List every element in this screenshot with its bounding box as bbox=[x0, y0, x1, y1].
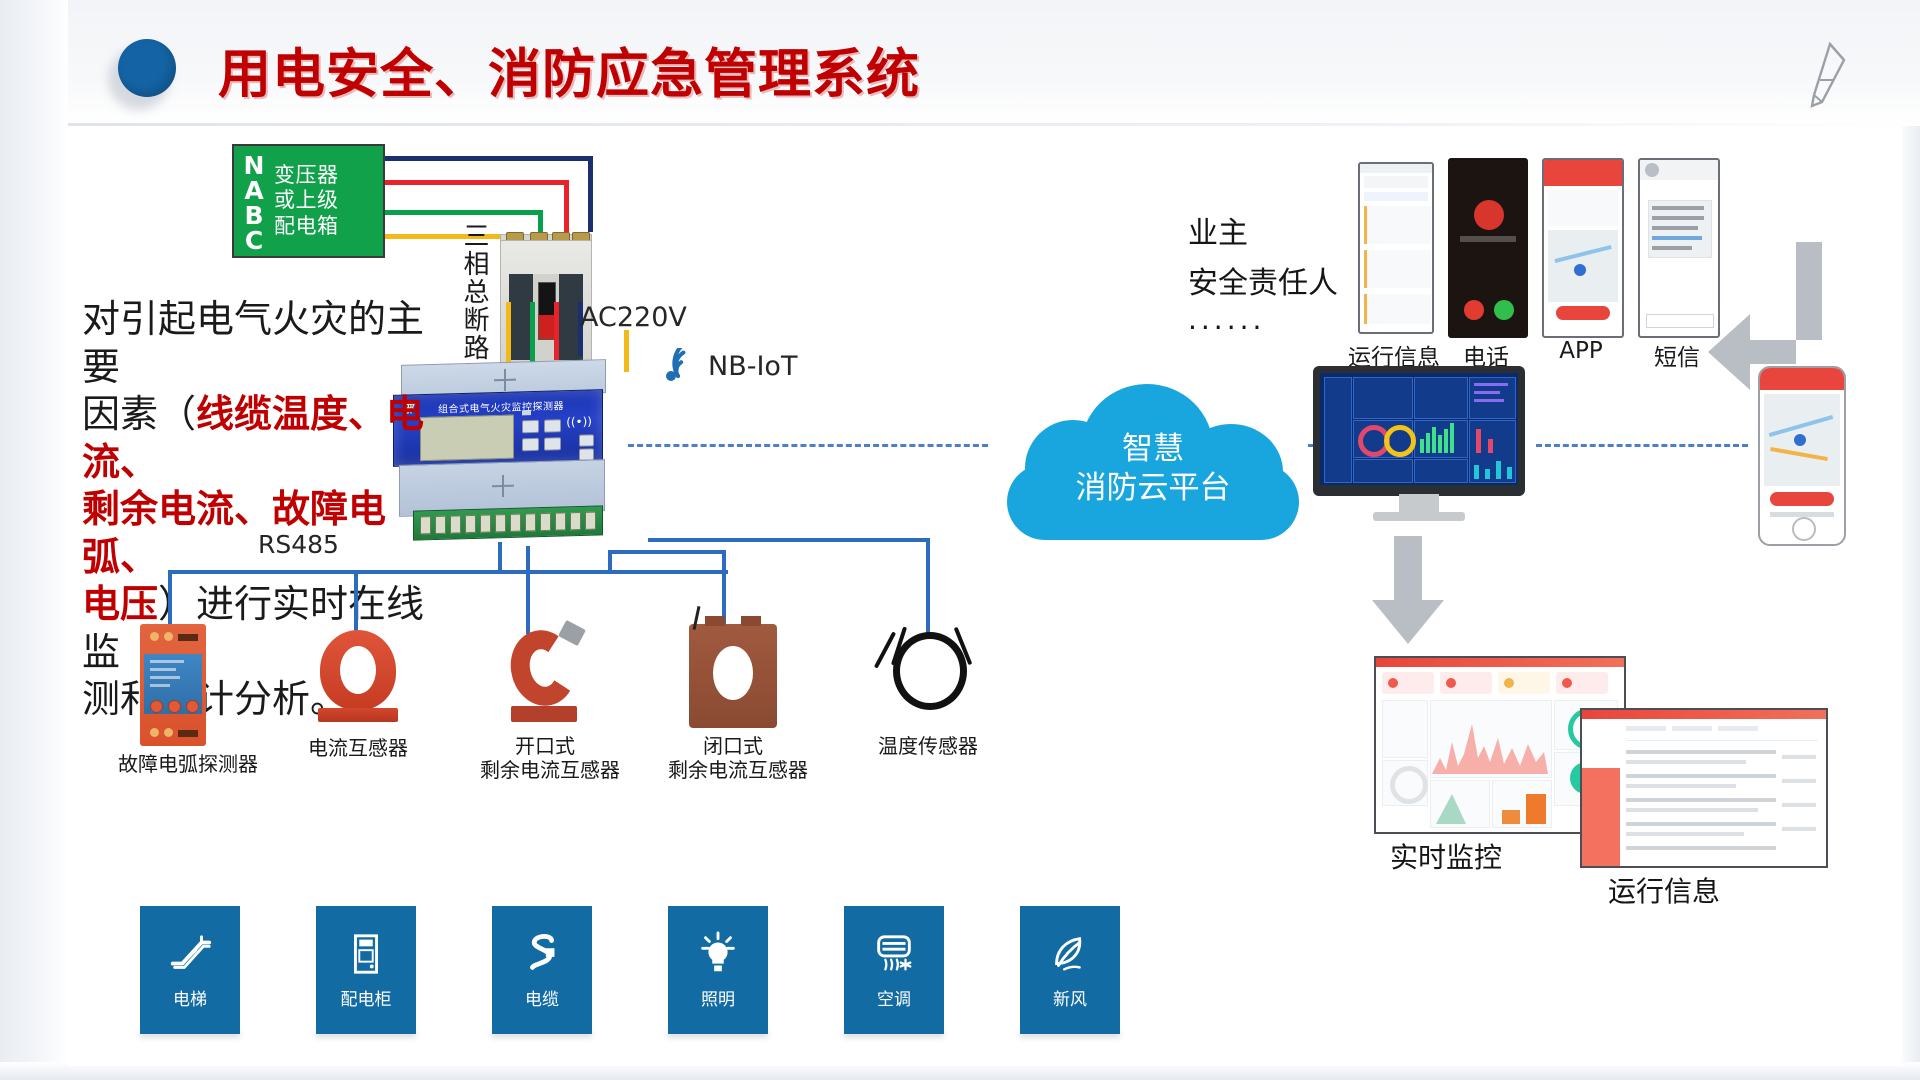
source-box-text: 变压器 或上级 配电箱 bbox=[274, 163, 383, 240]
cloud-text: 智慧 消防云平台 bbox=[1003, 430, 1303, 508]
rs485-label: RS485 bbox=[258, 530, 339, 559]
tile-label: 电缆 bbox=[525, 985, 559, 1010]
wire-a-vertical bbox=[564, 180, 569, 232]
bus-branch-3 bbox=[526, 546, 530, 634]
cloud-platform: 智慧 消防云平台 bbox=[1003, 378, 1303, 548]
bullet-circle-icon bbox=[118, 39, 176, 97]
nbiot-label: NB-IoT bbox=[708, 351, 797, 382]
controller-name: 组合式电气火灾监控探测器 bbox=[438, 397, 564, 416]
tile-distribution-cabinet[interactable]: 配电柜 bbox=[316, 906, 416, 1034]
wifi-signal-icon bbox=[658, 348, 698, 384]
dash-link-controller-cloud bbox=[628, 444, 988, 447]
role-safety-officer: 安全责任人 bbox=[1188, 258, 1338, 302]
phase-a: A bbox=[244, 178, 263, 203]
phone-running-info bbox=[1358, 162, 1434, 334]
bus-branch-1 bbox=[168, 570, 172, 630]
tile-label: 电梯 bbox=[173, 985, 207, 1010]
tile-fresh-air[interactable]: 新风 bbox=[1020, 906, 1120, 1034]
distribution-cabinet-icon bbox=[343, 931, 389, 977]
sensor-label: 故障电弧探测器 bbox=[118, 752, 228, 776]
wire-a-horizontal bbox=[385, 180, 569, 185]
arc-fault-detector-icon bbox=[140, 624, 206, 746]
sensor-label-2: 剩余电流互感器 bbox=[480, 758, 610, 782]
sensor-label: 温度传感器 bbox=[868, 734, 988, 758]
phone-app bbox=[1542, 158, 1624, 338]
sensor-label: 闭口式 bbox=[668, 734, 798, 758]
ac220v-label: AC220V bbox=[580, 302, 687, 333]
source-line-1: 变压器 bbox=[274, 163, 377, 189]
sensor-arc-fault-detector: 故障电弧探测器 bbox=[118, 624, 228, 776]
tile-lighting[interactable]: 照明 bbox=[668, 906, 768, 1034]
mobile-app-phone bbox=[1758, 366, 1846, 546]
sensor-closed-type-residual-ct: 闭口式 剩余电流互感器 bbox=[668, 624, 798, 783]
tile-cable[interactable]: 电缆 bbox=[492, 906, 592, 1034]
tile-label: 新风 bbox=[1053, 985, 1087, 1010]
tile-air-conditioner[interactable]: 空调 bbox=[844, 906, 944, 1034]
running-info-dashboard bbox=[1580, 708, 1828, 868]
bus-branch-4-h bbox=[608, 550, 726, 554]
source-distribution-box: N A B C 变压器 或上级 配电箱 bbox=[232, 144, 385, 258]
tile-label: 空调 bbox=[877, 985, 911, 1010]
lighting-bulb-icon bbox=[695, 931, 741, 977]
desc-line-4-red: 电压 bbox=[82, 582, 158, 626]
sensor-open-type-residual-ct: 开口式 剩余电流互感器 bbox=[480, 624, 610, 783]
phase-b: B bbox=[244, 203, 263, 228]
sensor-label: 开口式 bbox=[480, 734, 610, 758]
left-edge-gradient bbox=[0, 0, 68, 1080]
dashboard-label-realtime: 实时监控 bbox=[1390, 836, 1502, 876]
desc-line-2: 因素（线缆温度、电流、 bbox=[82, 391, 450, 486]
tile-label: 配电柜 bbox=[341, 985, 392, 1010]
nbiot-group: NB-IoT bbox=[658, 348, 797, 384]
wire-b-out bbox=[530, 302, 535, 364]
cloud-line-2: 消防云平台 bbox=[1003, 469, 1303, 508]
role-owner: 业主 bbox=[1188, 208, 1248, 252]
wire-b-horizontal bbox=[385, 210, 543, 215]
bus-horizontal bbox=[168, 570, 728, 574]
dashboard-label-running-info: 运行信息 bbox=[1608, 870, 1720, 910]
tile-label: 照明 bbox=[701, 985, 735, 1010]
open-type-residual-ct-icon bbox=[503, 624, 587, 728]
pen-icon bbox=[1800, 40, 1860, 112]
wire-c-out bbox=[506, 302, 511, 368]
temperature-sensor-icon bbox=[873, 624, 983, 728]
current-transformer-icon bbox=[316, 626, 400, 730]
wire-ac220v-drop bbox=[624, 330, 629, 372]
slide-page: 用电安全、消防应急管理系统 N A B C 变压器 或上级 配电箱 bbox=[0, 0, 1920, 1080]
closed-type-residual-ct-icon bbox=[689, 624, 777, 728]
source-line-3: 配电箱 bbox=[274, 214, 377, 240]
escalator-icon bbox=[167, 931, 213, 977]
sensor-temperature: 温度传感器 bbox=[868, 624, 988, 758]
page-title: 用电安全、消防应急管理系统 bbox=[218, 32, 920, 108]
phone-call bbox=[1448, 158, 1528, 338]
wire-n-vertical bbox=[588, 156, 593, 232]
monitoring-workstation bbox=[1313, 366, 1525, 526]
cloud-line-1: 智慧 bbox=[1003, 430, 1303, 469]
desc-line-1: 对引起电气火灾的主要 bbox=[82, 296, 450, 391]
air-conditioner-icon bbox=[871, 931, 917, 977]
bus-trunk-down bbox=[498, 542, 502, 572]
wire-a-out bbox=[554, 302, 559, 360]
sensor-label: 电流互感器 bbox=[308, 736, 408, 760]
application-scenario-tiles: 电梯 配电柜 电缆 bbox=[80, 906, 1200, 1034]
cable-icon bbox=[519, 931, 565, 977]
arrow-down-to-dashboard-icon bbox=[1368, 536, 1448, 646]
phase-c: C bbox=[245, 228, 263, 253]
wire-c-horizontal bbox=[385, 234, 517, 239]
diagram-canvas: N A B C 变压器 或上级 配电箱 三相总断路器 bbox=[68, 126, 1902, 1066]
desc-line-2-black: 因素（ bbox=[82, 392, 196, 436]
phase-letters: N A B C bbox=[234, 153, 274, 249]
fresh-air-icon bbox=[1047, 931, 1093, 977]
phase-n: N bbox=[244, 153, 265, 178]
role-ellipsis: ······ bbox=[1188, 311, 1265, 344]
wire-n-horizontal bbox=[385, 156, 593, 161]
channel-label-app: APP bbox=[1534, 338, 1628, 364]
tile-elevator[interactable]: 电梯 bbox=[140, 906, 240, 1034]
bus-branch-5-h bbox=[648, 538, 930, 542]
sensor-current-transformer: 电流互感器 bbox=[308, 626, 408, 760]
source-line-2: 或上级 bbox=[274, 188, 377, 214]
bus-branch-5 bbox=[926, 538, 930, 636]
sensor-label-2: 剩余电流互感器 bbox=[668, 758, 798, 782]
